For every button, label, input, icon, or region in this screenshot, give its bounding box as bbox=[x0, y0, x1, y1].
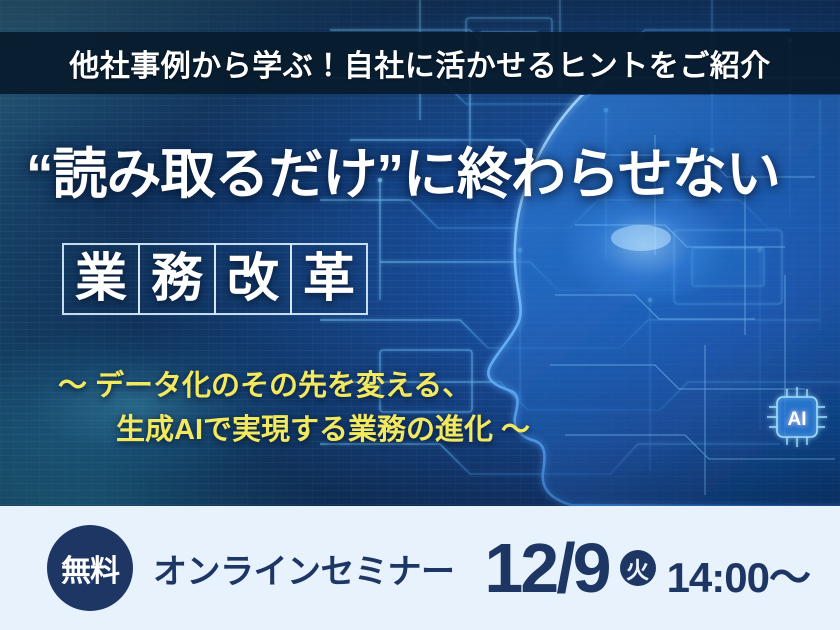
kanji-char-3: 改 bbox=[227, 253, 279, 305]
event-datetime: 12/9 火 14:00〜 bbox=[484, 533, 810, 603]
kanji-char-2: 務 bbox=[151, 253, 203, 305]
top-ribbon: 他社事例から学ぶ！自社に活かせるヒントをご紹介 bbox=[0, 32, 840, 94]
kanji-char-1: 業 bbox=[75, 253, 127, 305]
event-type-label: オンラインセミナー bbox=[153, 544, 455, 593]
headline: “読み取るだけ”に終わらせない bbox=[26, 146, 826, 203]
free-badge-label: 無料 bbox=[61, 546, 119, 590]
ribbon-text: 他社事例から学ぶ！自社に活かせるヒントをご紹介 bbox=[69, 41, 771, 85]
seminar-banner: AI 他社事例から学ぶ！自社に活かせるヒントをご紹介 “読み取るだけ”に終わらせ… bbox=[0, 0, 840, 630]
kanji-box-4: 革 bbox=[290, 243, 368, 315]
event-time: 14:00〜 bbox=[667, 557, 810, 599]
kanji-box-2: 務 bbox=[138, 243, 216, 315]
boxed-keyword: 業 務 改 革 bbox=[62, 243, 366, 315]
day-of-week-badge: 火 bbox=[620, 550, 656, 586]
kanji-box-1: 業 bbox=[62, 243, 140, 315]
subtitle: 〜 データ化のその先を変える、 生成AIで実現する業務の進化 〜 bbox=[58, 364, 678, 452]
kanji-char-4: 革 bbox=[303, 253, 355, 305]
free-badge: 無料 bbox=[47, 525, 133, 611]
kanji-box-3: 改 bbox=[214, 243, 292, 315]
subtitle-line-2: 生成AIで実現する業務の進化 〜 bbox=[58, 408, 678, 452]
subtitle-line-1: 〜 データ化のその先を変える、 bbox=[58, 370, 471, 402]
footer-bar: 無料 オンラインセミナー 12/9 火 14:00〜 bbox=[0, 506, 840, 630]
event-date: 12/9 bbox=[484, 533, 608, 603]
